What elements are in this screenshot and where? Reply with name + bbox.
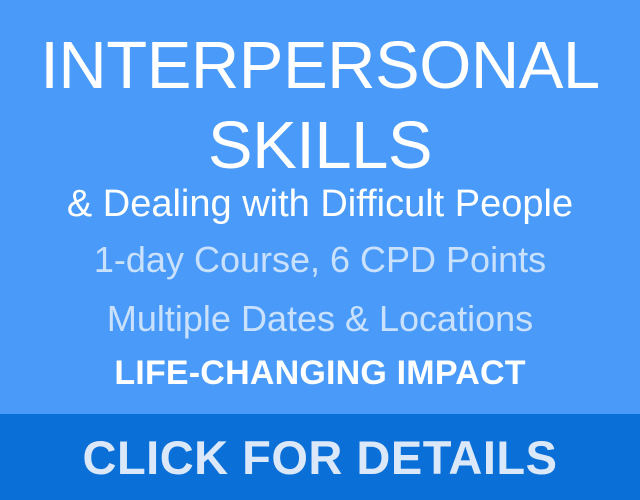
- cta-button[interactable]: CLICK FOR DETAILS: [0, 414, 640, 500]
- advertisement-banner[interactable]: INTERPERSONAL SKILLS & Dealing with Diff…: [0, 0, 640, 500]
- banner-subtitle: & Dealing with Difficult People: [0, 185, 640, 223]
- headline-line-2: SKILLS: [0, 112, 640, 179]
- banner-content-area: INTERPERSONAL SKILLS & Dealing with Diff…: [0, 0, 640, 414]
- detail-line-dates-locations: Multiple Dates & Locations: [0, 301, 640, 337]
- banner-tagline: LIFE-CHANGING IMPACT: [0, 356, 640, 390]
- cta-button-label: CLICK FOR DETAILS: [0, 434, 640, 481]
- headline-line-1: INTERPERSONAL: [0, 32, 640, 99]
- detail-line-course-info: 1-day Course, 6 CPD Points: [0, 242, 640, 278]
